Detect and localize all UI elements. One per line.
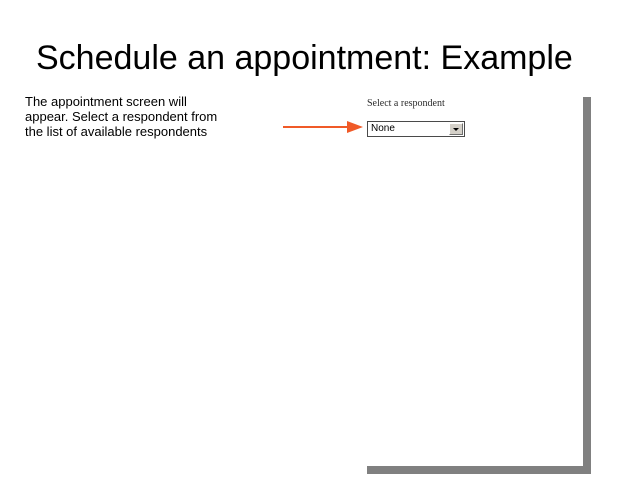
respondent-select[interactable]: None — [367, 121, 465, 137]
body-paragraph: The appointment screen will appear. Sele… — [25, 94, 253, 140]
arrow-shaft — [283, 126, 349, 128]
respondent-select-value: None — [368, 122, 449, 136]
body-paragraph-line: The appointment screen will — [25, 94, 253, 109]
arrow-head — [347, 121, 363, 133]
respondent-select-dropdown-button[interactable] — [449, 123, 463, 135]
arrow-right-icon — [283, 120, 365, 135]
page-title: Schedule an appointment: Example — [36, 38, 616, 78]
slide-canvas: Schedule an appointment: Example The app… — [0, 0, 640, 480]
body-paragraph-line: the list of available respondents — [25, 124, 253, 139]
screenshot-shadow-bottom — [367, 466, 591, 474]
body-paragraph-line: appear. Select a respondent from — [25, 109, 253, 124]
respondent-select-label: Select a respondent — [367, 98, 445, 110]
chevron-down-icon — [453, 128, 459, 131]
screenshot-shadow-right — [583, 97, 591, 474]
